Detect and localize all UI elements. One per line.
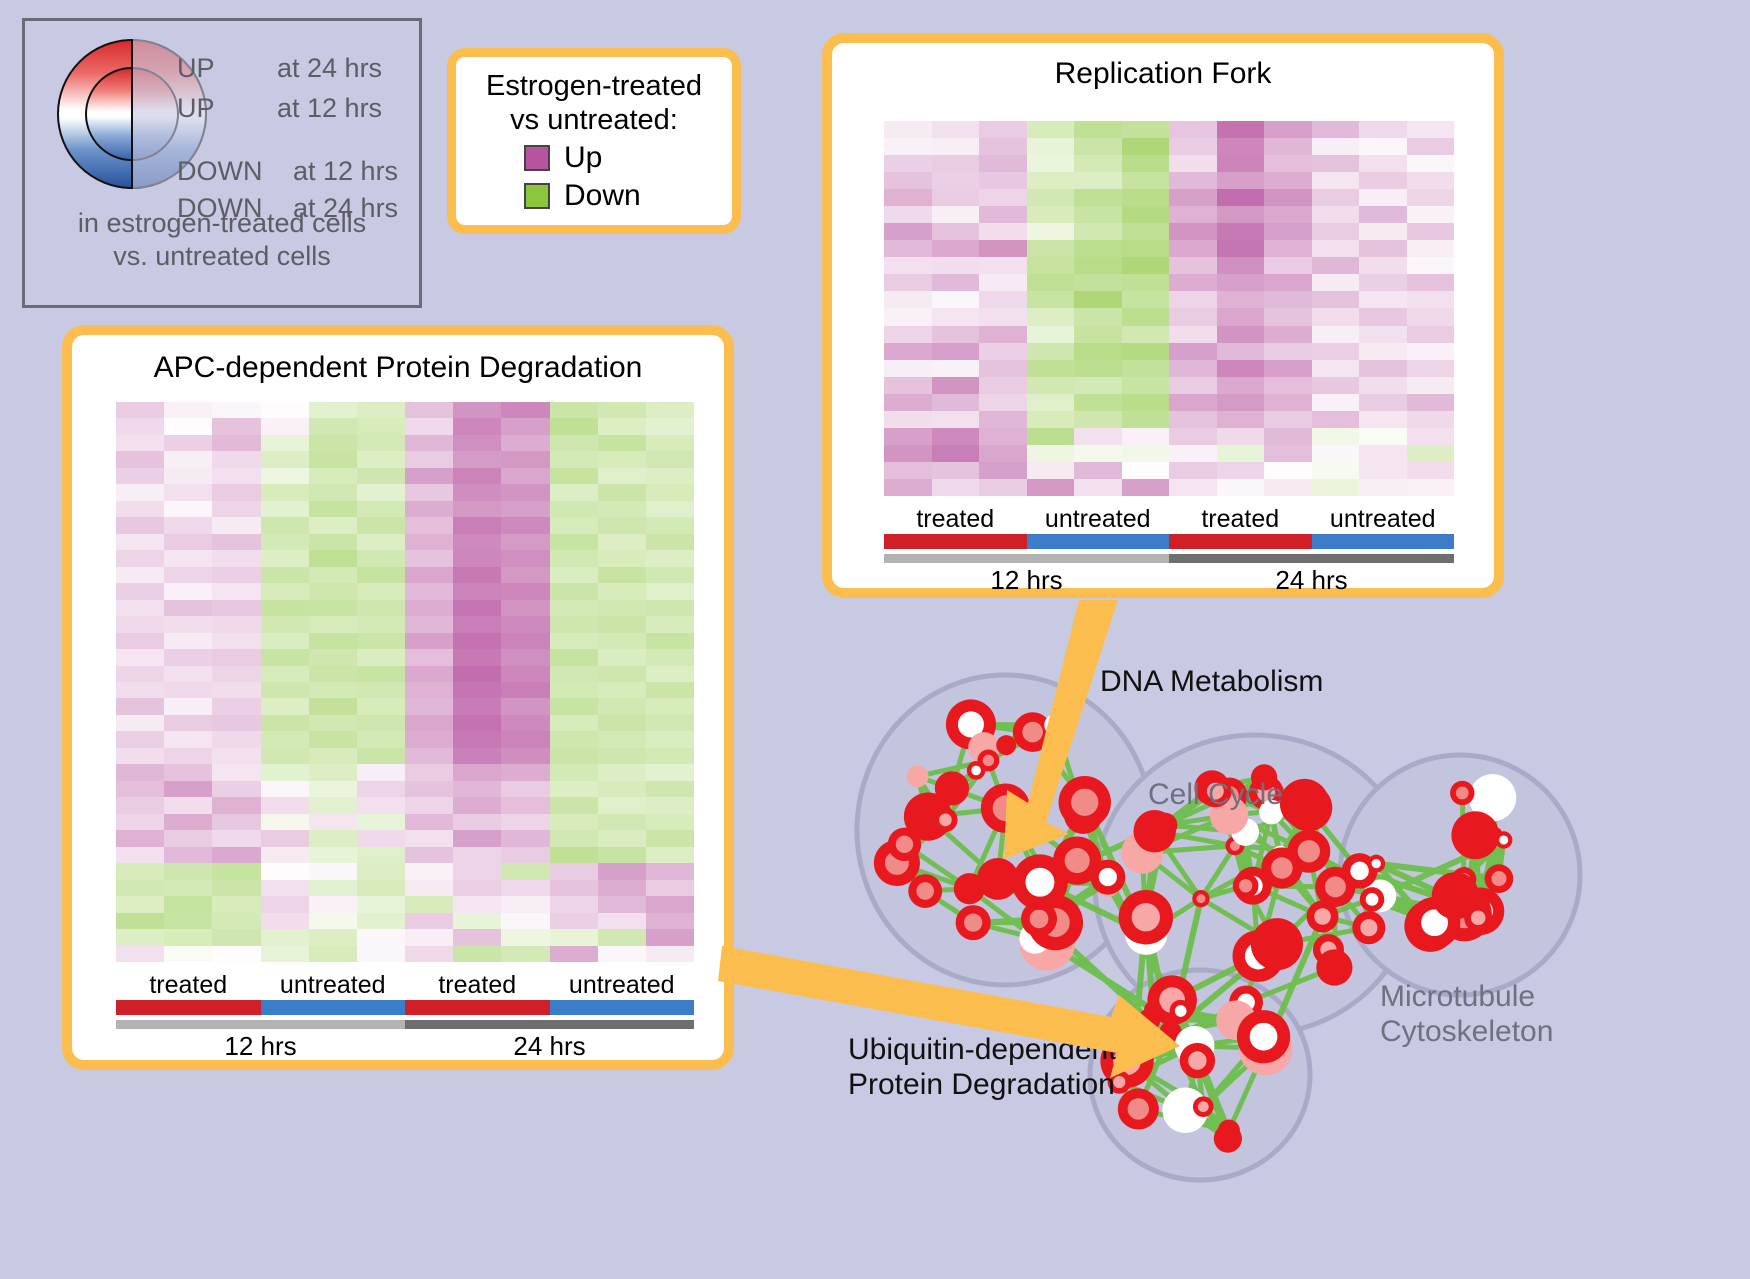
heat-cell: [932, 445, 980, 462]
heat-cell: [261, 863, 309, 879]
heat-cell: [261, 534, 309, 550]
node-inner: [896, 836, 913, 853]
heat-cell: [357, 880, 405, 896]
heat-cell: [1169, 121, 1217, 138]
heat-cell: [453, 797, 501, 813]
heat-cell: [1407, 445, 1455, 462]
network-node[interactable]: [908, 874, 942, 908]
heat-cell: [116, 468, 164, 484]
heat-cell: [309, 682, 357, 698]
network-node[interactable]: [1119, 890, 1173, 944]
heat-cell: [550, 946, 598, 962]
heat-cell: [212, 781, 260, 797]
network-node[interactable]: [1044, 714, 1066, 736]
heat-cell: [261, 567, 309, 583]
heat-cell: [1312, 206, 1360, 223]
heat-cell: [1359, 479, 1407, 496]
heat-cell: [1169, 326, 1217, 343]
heat-cell: [261, 484, 309, 500]
up-swatch-icon: [524, 145, 550, 171]
network-node[interactable]: [933, 808, 957, 832]
network-node[interactable]: [1192, 890, 1209, 907]
down-swatch-icon: [524, 183, 550, 209]
heat-cell: [979, 479, 1027, 496]
heat-cell: [598, 468, 646, 484]
heat-cell: [212, 929, 260, 945]
condition-bar-segment: [1169, 534, 1312, 549]
network-node[interactable]: [1316, 949, 1352, 985]
heat-cell: [453, 435, 501, 451]
heat-cell: [979, 121, 1027, 138]
node-inner: [1325, 876, 1346, 897]
heat-cell: [261, 468, 309, 484]
heat-cell: [261, 880, 309, 896]
heat-cell: [1169, 445, 1217, 462]
heat-cell: [309, 600, 357, 616]
network-node[interactable]: [1450, 781, 1474, 805]
network-node[interactable]: [981, 784, 1030, 833]
heat-cell: [979, 189, 1027, 206]
heat-cell: [598, 435, 646, 451]
network-node[interactable]: [1495, 831, 1512, 848]
heat-cell: [1359, 377, 1407, 394]
heat-cell: [1264, 326, 1312, 343]
heat-cell: [1169, 206, 1217, 223]
network-node[interactable]: [996, 735, 1016, 755]
heat-cell: [164, 682, 212, 698]
wheel-time-up-24: at 24 hrs: [277, 53, 382, 84]
heat-cell: [357, 517, 405, 533]
network-node[interactable]: [1261, 847, 1302, 888]
heat-cell: [550, 814, 598, 830]
heat-cell: [1312, 326, 1360, 343]
updown-title-line2: vs untreated:: [456, 103, 732, 137]
heat-cell: [357, 402, 405, 418]
network-node[interactable]: [1464, 904, 1492, 932]
time-label: 24 hrs: [1169, 565, 1454, 596]
heat-cell: [212, 830, 260, 846]
heat-cell: [309, 847, 357, 863]
heat-cell: [261, 781, 309, 797]
network-node[interactable]: [1090, 860, 1125, 895]
node-outer: [1138, 1009, 1160, 1031]
heat-cell: [357, 649, 405, 665]
heat-cell: [1217, 240, 1265, 257]
heat-cell: [646, 583, 694, 599]
heat-cell: [1169, 343, 1217, 360]
network-node[interactable]: [888, 828, 921, 861]
network-node[interactable]: [1485, 864, 1514, 893]
heat-cell: [932, 377, 980, 394]
heat-cell: [1359, 240, 1407, 257]
heat-cell: [1169, 240, 1217, 257]
heat-cell: [932, 394, 980, 411]
heat-cell: [116, 830, 164, 846]
heat-cell: [884, 326, 932, 343]
network-node[interactable]: [1170, 1000, 1192, 1022]
heat-cell: [212, 682, 260, 698]
heat-cell: [1359, 462, 1407, 479]
heat-cell: [1359, 257, 1407, 274]
node-outer: [1285, 784, 1333, 832]
heat-cell: [1169, 172, 1217, 189]
heat-cell: [116, 649, 164, 665]
heat-cell: [550, 715, 598, 731]
network-node[interactable]: [1307, 901, 1339, 933]
heat-cell: [1122, 343, 1170, 360]
heat-cell: [501, 418, 549, 434]
heat-cell: [1407, 360, 1455, 377]
heat-cell: [1122, 155, 1170, 172]
heat-cell: [1027, 121, 1075, 138]
network-node[interactable]: [977, 750, 999, 772]
heat-cell: [1122, 189, 1170, 206]
heat-cell: [550, 698, 598, 714]
node-inner: [1499, 835, 1508, 844]
heat-cell: [212, 649, 260, 665]
heat-cell: [979, 257, 1027, 274]
node-inner: [1196, 894, 1205, 903]
heat-cell: [453, 764, 501, 780]
heat-cell: [932, 308, 980, 325]
time-bar-segment: [116, 1020, 405, 1029]
heat-cell: [598, 550, 646, 566]
heat-cell: [309, 418, 357, 434]
heat-cell: [1169, 428, 1217, 445]
heat-cell: [453, 649, 501, 665]
heat-cell: [550, 863, 598, 879]
heat-cell: [261, 715, 309, 731]
network-node[interactable]: [1214, 1125, 1242, 1153]
heat-cell: [598, 633, 646, 649]
heat-cell: [309, 946, 357, 962]
heat-cell: [212, 764, 260, 780]
network-node[interactable]: [907, 766, 929, 788]
heat-cell: [1122, 411, 1170, 428]
heat-cell: [550, 534, 598, 550]
heat-cell: [550, 682, 598, 698]
heat-cell: [646, 666, 694, 682]
heat-cell: [1312, 377, 1360, 394]
heat-cell: [405, 517, 453, 533]
network-node[interactable]: [1138, 1009, 1160, 1031]
legend-key-up: Up: [456, 141, 732, 175]
heat-cell: [116, 600, 164, 616]
heat-cell: [116, 781, 164, 797]
network-node[interactable]: [1059, 776, 1111, 828]
heat-cell: [884, 377, 932, 394]
network-node[interactable]: [1193, 1096, 1214, 1117]
network-node[interactable]: [1180, 1043, 1215, 1078]
heat-cell: [1312, 343, 1360, 360]
heat-cell: [979, 155, 1027, 172]
heat-cell: [501, 501, 549, 517]
heat-cell: [212, 517, 260, 533]
heat-cell: [1264, 291, 1312, 308]
heat-cell: [598, 567, 646, 583]
heat-cell: [1312, 172, 1360, 189]
heat-cell: [1312, 479, 1360, 496]
network-node[interactable]: [1285, 784, 1333, 832]
heat-cell: [212, 715, 260, 731]
network-node[interactable]: [1237, 1010, 1290, 1063]
apc-degradation-panel: APC-dependent Protein Degradation treate…: [62, 325, 734, 1070]
time-bar-segment: [1169, 554, 1454, 563]
heat-cell: [309, 830, 357, 846]
heat-cell: [1074, 462, 1122, 479]
updown-title-line1: Estrogen-treated: [456, 69, 732, 103]
heat-cell: [1264, 155, 1312, 172]
network-node[interactable]: [954, 873, 985, 904]
heat-cell: [357, 698, 405, 714]
heat-cell: [1027, 223, 1075, 240]
network-node[interactable]: [1251, 918, 1303, 970]
heat-cell: [979, 240, 1027, 257]
heat-cell: [453, 501, 501, 517]
heat-cell: [453, 583, 501, 599]
heat-cell: [357, 567, 405, 583]
heat-cell: [116, 451, 164, 467]
heat-cell: [646, 484, 694, 500]
heat-cell: [550, 748, 598, 764]
heat-cell: [1027, 462, 1075, 479]
heat-cell: [1312, 155, 1360, 172]
heat-cell: [884, 240, 932, 257]
rf-time-labels: 12 hrs24 hrs: [884, 565, 1454, 596]
heat-cell: [1074, 240, 1122, 257]
heat-cell: [212, 633, 260, 649]
heat-cell: [598, 583, 646, 599]
heat-cell: [453, 715, 501, 731]
network-node[interactable]: [956, 905, 991, 940]
network-node[interactable]: [1451, 811, 1499, 859]
heat-cell: [212, 484, 260, 500]
node-outer: [1133, 810, 1175, 852]
heat-cell: [116, 847, 164, 863]
network-node[interactable]: [1233, 873, 1259, 899]
heat-cell: [1359, 206, 1407, 223]
time-label: 24 hrs: [405, 1031, 694, 1062]
heat-cell: [357, 682, 405, 698]
node-inner: [1271, 857, 1292, 878]
heat-cell: [598, 698, 646, 714]
heat-cell: [1122, 462, 1170, 479]
heat-cell: [550, 764, 598, 780]
heat-cell: [212, 814, 260, 830]
heat-cell: [598, 929, 646, 945]
heat-cell: [309, 715, 357, 731]
heat-cell: [405, 484, 453, 500]
heat-cell: [1122, 240, 1170, 257]
heat-cell: [646, 781, 694, 797]
heat-cell: [884, 291, 932, 308]
heat-cell: [405, 748, 453, 764]
heat-cell: [501, 534, 549, 550]
heat-cell: [1027, 308, 1075, 325]
heat-cell: [979, 360, 1027, 377]
heat-cell: [309, 896, 357, 912]
heat-cell: [1264, 411, 1312, 428]
heat-cell: [932, 257, 980, 274]
heat-cell: [598, 764, 646, 780]
heat-cell: [212, 451, 260, 467]
heat-cell: [357, 484, 405, 500]
heat-cell: [1407, 308, 1455, 325]
node-inner: [1132, 903, 1160, 931]
heat-cell: [453, 830, 501, 846]
heat-cell: [405, 633, 453, 649]
heat-cell: [261, 847, 309, 863]
heat-cell: [1027, 411, 1075, 428]
heat-cell: [1217, 462, 1265, 479]
heat-cell: [932, 155, 980, 172]
heat-cell: [646, 550, 694, 566]
heat-cell: [453, 484, 501, 500]
heat-cell: [164, 633, 212, 649]
heat-cell: [1074, 428, 1122, 445]
heat-cell: [1359, 121, 1407, 138]
heat-cell: [884, 479, 932, 496]
legend-caption-line2: vs. untreated cells: [25, 240, 419, 273]
heat-cell: [1312, 274, 1360, 291]
rf-condition-labels: treateduntreatedtreateduntreated: [884, 505, 1454, 534]
heat-cell: [501, 880, 549, 896]
heat-cell: [405, 534, 453, 550]
heat-cell: [405, 797, 453, 813]
heat-cell: [501, 896, 549, 912]
heat-cell: [1407, 343, 1455, 360]
heat-cell: [405, 418, 453, 434]
heat-cell: [646, 929, 694, 945]
heat-cell: [453, 863, 501, 879]
heat-cell: [646, 863, 694, 879]
network-node[interactable]: [1118, 1088, 1159, 1129]
heat-cell: [1169, 155, 1217, 172]
heat-cell: [1359, 274, 1407, 291]
heat-cell: [598, 748, 646, 764]
heat-cell: [598, 418, 646, 434]
heat-cell: [550, 517, 598, 533]
heat-cell: [1122, 326, 1170, 343]
heat-cell: [212, 946, 260, 962]
heat-cell: [453, 666, 501, 682]
heat-cell: [453, 929, 501, 945]
apc-panel-title: APC-dependent Protein Degradation: [72, 351, 724, 385]
heat-cell: [357, 814, 405, 830]
heat-cell: [1074, 223, 1122, 240]
heat-cell: [1122, 445, 1170, 462]
heat-cell: [357, 781, 405, 797]
network-node[interactable]: [1133, 810, 1175, 852]
heat-cell: [550, 666, 598, 682]
heat-cell: [116, 666, 164, 682]
heat-cell: [501, 698, 549, 714]
heat-cell: [116, 764, 164, 780]
label-dna-metabolism: DNA Metabolism: [1100, 665, 1323, 700]
heat-cell: [550, 435, 598, 451]
heat-cell: [116, 929, 164, 945]
heat-cell: [501, 451, 549, 467]
condition-bar-segment: [116, 1000, 261, 1015]
heat-cell: [309, 649, 357, 665]
replication-fork-heatmap: [884, 121, 1454, 496]
up-label: Up: [564, 141, 664, 175]
network-svg: [800, 620, 1750, 1279]
apc-condition-labels: treateduntreatedtreateduntreated: [116, 971, 694, 1000]
heat-cell: [550, 633, 598, 649]
heat-cell: [1359, 189, 1407, 206]
heat-cell: [116, 418, 164, 434]
heat-cell: [164, 501, 212, 517]
heat-cell: [646, 682, 694, 698]
heat-cell: [164, 435, 212, 451]
heat-cell: [1217, 308, 1265, 325]
heat-cell: [598, 814, 646, 830]
heat-cell: [261, 748, 309, 764]
heat-cell: [1312, 189, 1360, 206]
heat-cell: [405, 666, 453, 682]
heat-cell: [1312, 291, 1360, 308]
heat-cell: [1169, 189, 1217, 206]
heat-cell: [1264, 343, 1312, 360]
heat-cell: [164, 616, 212, 632]
heat-cell: [212, 913, 260, 929]
network-node[interactable]: [1352, 911, 1385, 944]
heat-cell: [646, 435, 694, 451]
heat-cell: [1074, 189, 1122, 206]
heat-cell: [1264, 445, 1312, 462]
network-node[interactable]: [1367, 855, 1385, 873]
heat-cell: [212, 501, 260, 517]
heat-cell: [646, 847, 694, 863]
heat-cell: [164, 880, 212, 896]
heat-cell: [932, 411, 980, 428]
heat-cell: [501, 550, 549, 566]
wheel-time-down-12: at 12 hrs: [293, 156, 398, 187]
heat-cell: [309, 451, 357, 467]
node-inner: [1030, 910, 1049, 929]
condition-bar-segment: [550, 1000, 695, 1015]
heat-cell: [501, 946, 549, 962]
heat-cell: [646, 764, 694, 780]
heat-cell: [1217, 138, 1265, 155]
heat-cell: [261, 666, 309, 682]
heat-cell: [1027, 274, 1075, 291]
heat-cell: [116, 550, 164, 566]
heat-cell: [1027, 479, 1075, 496]
heat-cell: [357, 847, 405, 863]
heat-cell: [405, 863, 453, 879]
heat-cell: [453, 946, 501, 962]
network-node[interactable]: [1012, 854, 1068, 910]
heat-cell: [1122, 428, 1170, 445]
network-node[interactable]: [1360, 887, 1385, 912]
heat-cell: [212, 880, 260, 896]
wheel-label-up-12: UP: [177, 93, 215, 124]
network-node[interactable]: [1013, 712, 1053, 752]
heat-cell: [884, 308, 932, 325]
heat-cell: [212, 534, 260, 550]
heat-cell: [501, 814, 549, 830]
condition-bar-segment: [1027, 534, 1170, 549]
heat-cell: [212, 600, 260, 616]
heat-cell: [884, 155, 932, 172]
heat-cell: [884, 206, 932, 223]
heat-cell: [1122, 206, 1170, 223]
heat-cell: [405, 929, 453, 945]
heat-cell: [1217, 223, 1265, 240]
heat-cell: [884, 360, 932, 377]
